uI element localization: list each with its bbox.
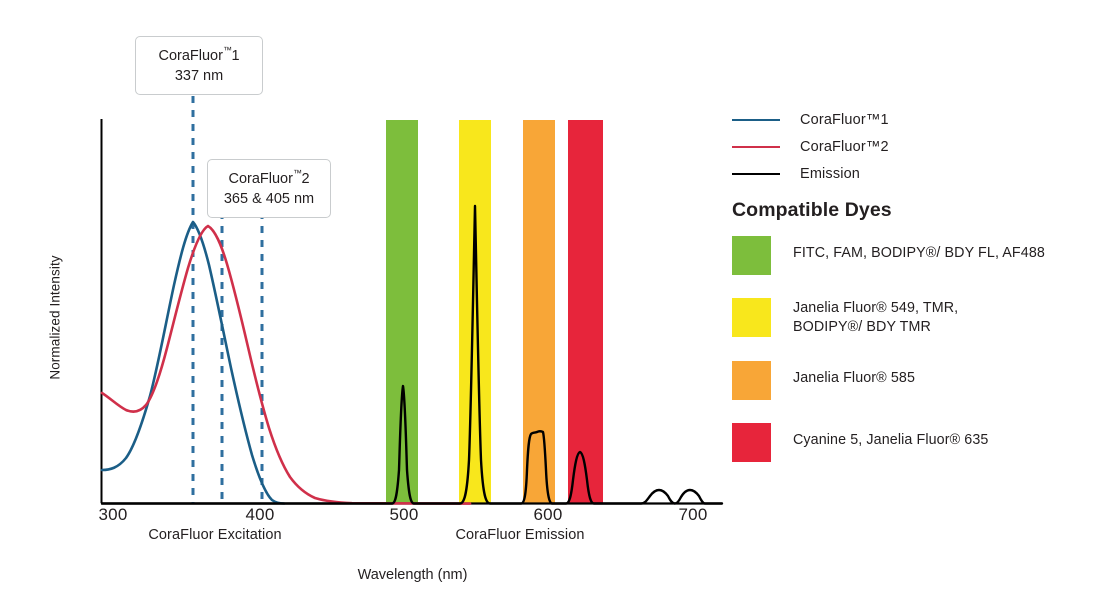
dye-label-green: FITC, FAM, BODIPY®/ BDY FL, AF488: [793, 236, 1045, 263]
band-red: [568, 120, 603, 503]
y-axis-title: Normalized Intensity: [48, 228, 63, 408]
band-yellow: [459, 120, 491, 503]
x-tick-600: 600: [518, 505, 578, 525]
legend-item-corafluor-2: CoraFluor™2: [730, 133, 1110, 160]
dye-label-yellow-line2: BODIPY®/ BDY TMR: [793, 318, 958, 337]
excitation-marker-lines: [193, 96, 262, 503]
dye-swatch-orange: [732, 361, 771, 400]
dye-bands: [386, 120, 603, 503]
x-tick-300: 300: [83, 505, 143, 525]
dye-label-yellow-line1: Janelia Fluor® 549, TMR,: [793, 300, 958, 316]
callout-1-number: 1: [231, 48, 239, 64]
x-tick-700: 700: [663, 505, 723, 525]
dye-row-green: FITC, FAM, BODIPY®/ BDY FL, AF488: [730, 236, 1110, 275]
legend-line-swatch-corafluor-2: [732, 146, 780, 148]
band-green: [386, 120, 418, 503]
callout-corafluor-1: CoraFluor™1 337 nm: [135, 36, 263, 95]
dye-swatch-red: [732, 423, 771, 462]
legend-item-corafluor-1: CoraFluor™1: [730, 106, 1110, 133]
x-tick-500: 500: [374, 505, 434, 525]
callout-1-line2: 337 nm: [148, 66, 250, 86]
legend-item-emission: Emission: [730, 160, 1110, 187]
dye-label-orange-line1: Janelia Fluor® 585: [793, 370, 915, 386]
x-axis-title: Wavelength (nm): [0, 567, 825, 583]
dye-label-orange: Janelia Fluor® 585: [793, 361, 915, 388]
dye-label-yellow: Janelia Fluor® 549, TMR, BODIPY®/ BDY TM…: [793, 298, 958, 338]
dye-label-red: Cyanine 5, Janelia Fluor® 635: [793, 423, 988, 450]
callout-2-number: 2: [301, 171, 309, 187]
legend-line-swatch-corafluor-1: [732, 119, 780, 121]
region-label-emission: CoraFluor Emission: [380, 527, 660, 543]
compatible-dyes-heading: Compatible Dyes: [732, 199, 892, 222]
x-tick-400: 400: [230, 505, 290, 525]
callout-1-line1-text: CoraFluor: [158, 48, 222, 64]
callout-corafluor-2: CoraFluor™2 365 & 405 nm: [207, 159, 331, 218]
region-label-excitation: CoraFluor Excitation: [75, 527, 355, 543]
series-legend: CoraFluor™1 CoraFluor™2 Emission: [730, 106, 1110, 187]
compatible-dyes-list: FITC, FAM, BODIPY®/ BDY FL, AF488 Janeli…: [730, 236, 1110, 485]
dye-swatch-green: [732, 236, 771, 275]
legend-line-swatch-emission: [732, 173, 780, 175]
dye-label-green-line1: FITC, FAM, BODIPY®/ BDY FL, AF488: [793, 245, 1045, 261]
dye-row-yellow: Janelia Fluor® 549, TMR, BODIPY®/ BDY TM…: [730, 298, 1110, 338]
dye-label-red-line1: Cyanine 5, Janelia Fluor® 635: [793, 432, 988, 448]
dye-row-orange: Janelia Fluor® 585: [730, 361, 1110, 400]
legend-label-corafluor-2: CoraFluor™2: [800, 139, 889, 155]
legend-label-corafluor-1: CoraFluor™1: [800, 112, 889, 128]
callout-2-line2: 365 & 405 nm: [220, 189, 318, 209]
callout-2-line1-text: CoraFluor: [228, 171, 292, 187]
legend-label-emission: Emission: [800, 166, 860, 182]
figure-root: Normalized Intensity 300 400 500 600 700…: [0, 0, 1110, 612]
legend-panel: CoraFluor™1 CoraFluor™2 Emission Compati…: [730, 0, 1110, 612]
dye-swatch-yellow: [732, 298, 771, 337]
spectra-plot: Normalized Intensity 300 400 500 600 700…: [0, 0, 730, 612]
dye-row-red: Cyanine 5, Janelia Fluor® 635: [730, 423, 1110, 462]
